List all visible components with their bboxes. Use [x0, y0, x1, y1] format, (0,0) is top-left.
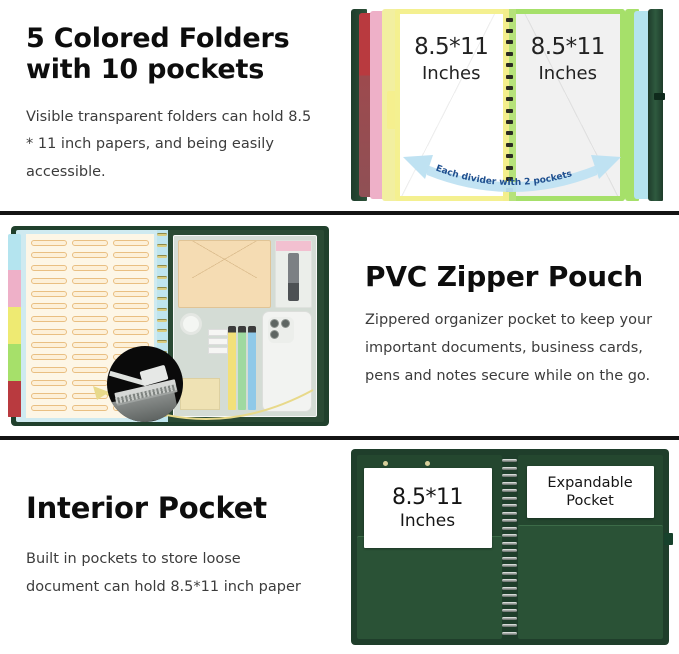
coil-ring: [502, 579, 517, 582]
label-sticker: [31, 393, 67, 399]
coil-ring: [157, 233, 167, 236]
pen-loop-tab: [664, 533, 673, 545]
coil-ring: [502, 519, 517, 522]
open-folder-notebook-illustration: 8.5*11 Inches: [351, 7, 669, 203]
coil-ring: [157, 340, 167, 343]
coil-ring: [157, 308, 167, 311]
label-sticker: [31, 291, 67, 297]
label-sticker: [31, 405, 67, 411]
coil-ring: [502, 504, 517, 507]
right-divider-stack: [625, 7, 669, 203]
metal-spiral-coil: [502, 455, 518, 639]
label-sticker: [72, 316, 108, 322]
binding-hole: [506, 120, 513, 124]
right-card-line-2: Pocket: [566, 492, 614, 510]
product-feature-infographic: 5 Colored Folders with 10 pockets Visibl…: [0, 0, 679, 654]
right-expandable-pocket: [518, 525, 663, 639]
usb-flash-drive: [288, 253, 299, 301]
panel-2-text-column: PVC Zipper Pouch Zippered organizer pock…: [339, 215, 679, 436]
label-sticker: [31, 240, 67, 246]
binding-hole: [506, 97, 513, 101]
camera-lens: [270, 330, 279, 339]
binding-hole: [506, 40, 513, 44]
coil-ring: [502, 527, 517, 530]
binding-hole: [506, 18, 513, 22]
label-sticker: [113, 291, 149, 297]
interior-left-cover: 8.5*11 Inches: [357, 455, 502, 639]
panel-2-media: [0, 215, 339, 436]
coil-ring: [502, 489, 517, 492]
label-sticker: [72, 291, 108, 297]
label-sticker: [72, 278, 108, 284]
panel-1-heading-line-2: with 10 pockets: [26, 54, 264, 85]
page-left-size-big: 8.5*11: [400, 36, 504, 59]
panel-pvc-zipper-pouch: PVC Zipper Pouch Zippered organizer pock…: [0, 215, 679, 436]
panel-3-media: 8.5*11 Inches: [340, 440, 679, 654]
binding-hole: [506, 131, 513, 135]
phone-camera-module: [268, 317, 294, 343]
coil-ring: [502, 557, 517, 560]
coil-ring: [502, 467, 517, 470]
coil-ring: [502, 587, 517, 590]
coil-ring: [502, 542, 517, 545]
notebook-front-cover: [648, 9, 663, 201]
label-sticker: [113, 240, 149, 246]
business-cards: [208, 329, 228, 354]
coil-ring: [502, 602, 517, 605]
page-right-size-label: 8.5*11 Inches: [516, 36, 620, 83]
label-sticker: [31, 252, 67, 258]
panel-2-body: Zippered organizer pocket to keep your i…: [365, 307, 657, 390]
interior-right-cover: Expandable Pocket: [518, 455, 663, 639]
left-interior-pocket: [357, 536, 502, 639]
panel-3-body: Built in pockets to store loose document…: [26, 546, 318, 602]
camera-lens: [281, 319, 290, 328]
interior-pocket-illustration: 8.5*11 Inches: [351, 449, 669, 645]
panel-interior-pocket: Interior Pocket Built in pockets to stor…: [0, 440, 679, 654]
label-sticker: [31, 354, 67, 360]
colored-tab-strip: [8, 234, 21, 418]
coil-ring: [502, 624, 517, 627]
left-card-size-small: Inches: [400, 513, 455, 530]
panel-1-text-column: 5 Colored Folders with 10 pockets Visibl…: [0, 0, 340, 210]
coil-ring: [157, 244, 167, 247]
tab-blue: [8, 234, 21, 271]
coil-ring: [502, 497, 517, 500]
coil-ring: [502, 534, 517, 537]
panel-3-heading: Interior Pocket: [26, 492, 318, 526]
tab-yellow: [8, 307, 21, 344]
business-card: [208, 338, 228, 345]
panel-3-text-column: Interior Pocket Built in pockets to stor…: [0, 440, 340, 654]
label-sticker: [72, 303, 108, 309]
expandable-pocket-card: Expandable Pocket: [527, 466, 654, 518]
label-sticker: [72, 329, 108, 335]
label-sticker: [31, 367, 67, 373]
zipper-pouch-notebook-illustration: [11, 226, 329, 426]
label-sticker: [31, 316, 67, 322]
paper-punch-hole: [383, 461, 388, 466]
page-left-size-small: Inches: [400, 65, 504, 83]
right-card-line-1: Expandable: [547, 474, 632, 492]
coil-ring: [157, 319, 167, 322]
label-sticker: [113, 278, 149, 284]
elastic-closure-loop: [654, 93, 665, 100]
label-sticker: [72, 342, 108, 348]
label-sticker: [31, 380, 67, 386]
page-right-size-big: 8.5*11: [516, 36, 620, 59]
camera-lens: [270, 319, 279, 328]
panel-1-heading: 5 Colored Folders with 10 pockets: [26, 23, 318, 86]
coil-ring: [502, 617, 517, 620]
label-sticker: [31, 329, 67, 335]
binding-hole: [506, 86, 513, 90]
label-sticker: [113, 316, 149, 322]
kraft-envelope: [178, 240, 271, 309]
pouch-top-row: [178, 240, 312, 309]
label-sticker: [31, 303, 67, 309]
coil-ring: [502, 512, 517, 515]
coil-ring: [502, 459, 517, 462]
tab-green: [8, 344, 21, 381]
coil-ring: [502, 549, 517, 552]
tab-pink: [8, 270, 21, 307]
label-sticker: [113, 252, 149, 258]
usb-compartment: [275, 240, 312, 309]
page-left-size-label: 8.5*11 Inches: [400, 36, 504, 83]
left-card-size-big: 8.5*11: [392, 487, 463, 509]
coil-ring: [502, 572, 517, 575]
panel-1-heading-line-1: 5 Colored Folders: [26, 23, 290, 54]
label-sticker: [31, 342, 67, 348]
binding-hole: [506, 29, 513, 33]
panel-1-media: 8.5*11 Inches: [340, 0, 679, 210]
label-sticker: [72, 240, 108, 246]
washi-tape-roll: [180, 313, 202, 335]
coil-ring: [157, 329, 167, 332]
page-right-size-small: Inches: [516, 65, 620, 83]
label-sticker: [31, 265, 67, 271]
coil-ring: [502, 564, 517, 567]
label-sticker: [72, 354, 108, 360]
panel-colored-folders: 5 Colored Folders with 10 pockets Visibl…: [0, 0, 679, 210]
coil-ring: [157, 276, 167, 279]
tab-red: [8, 381, 21, 418]
panel-2-heading: PVC Zipper Pouch: [365, 261, 657, 293]
coil-ring: [157, 265, 167, 268]
coil-ring: [502, 594, 517, 597]
zipper-closeup-callout: [107, 346, 183, 422]
label-sticker: [72, 367, 108, 373]
label-sticker: [72, 252, 108, 258]
label-sticker: [113, 329, 149, 335]
paper-punch-hole: [425, 461, 430, 466]
pointer-arrow-head: [93, 386, 109, 400]
coil-ring: [157, 287, 167, 290]
binding-hole: [506, 52, 513, 56]
binding-hole: [506, 63, 513, 67]
coil-ring: [157, 297, 167, 300]
coil-ring: [502, 474, 517, 477]
left-document-card: 8.5*11 Inches: [364, 468, 492, 548]
coil-ring: [502, 632, 517, 635]
binding-hole: [506, 75, 513, 79]
panel-1-body: Visible transparent folders can hold 8.5…: [26, 104, 318, 187]
left-divider-stack: [351, 7, 397, 203]
binding-hole: [506, 109, 513, 113]
label-sticker: [113, 265, 149, 271]
business-card: [208, 347, 228, 354]
label-sticker: [72, 265, 108, 271]
coil-ring: [502, 609, 517, 612]
coil-ring: [502, 482, 517, 485]
label-sticker: [113, 303, 149, 309]
label-sticker: [31, 278, 67, 284]
business-card: [208, 329, 228, 336]
divider-pockets-annotation: Each divider with 2 pockets: [397, 145, 627, 201]
coil-ring: [157, 255, 167, 258]
